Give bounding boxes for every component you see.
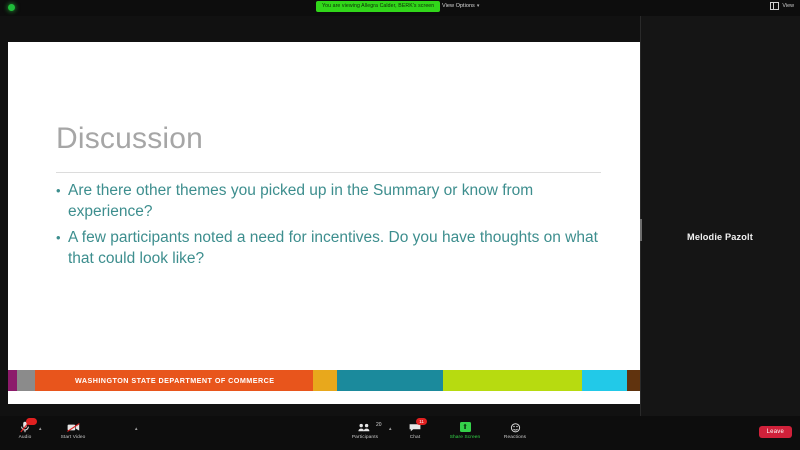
footer-segment-lime <box>443 370 582 391</box>
chat-unread-badge: 11 <box>416 418 427 425</box>
view-layout-button[interactable]: View <box>770 2 794 10</box>
participant-name: Melodie Pazolt <box>640 232 800 242</box>
reactions-icon <box>508 421 522 433</box>
camera-off-icon <box>66 421 80 433</box>
chevron-down-icon: ▾ <box>477 3 480 9</box>
slide-page-number: 16 <box>627 370 640 391</box>
audio-button[interactable]: Audio ▲ <box>8 421 42 440</box>
bullet-icon: • <box>56 227 68 248</box>
footer-organization-label: WASHINGTON STATE DEPARTMENT OF COMMERCE <box>35 370 313 391</box>
footer-segment-cyan <box>582 370 627 391</box>
audio-options-caret[interactable]: ▲ <box>38 426 42 431</box>
microphone-muted-icon <box>18 421 32 433</box>
start-video-button[interactable]: Start Video ▲ <box>56 421 90 440</box>
footer-segment-teal <box>337 370 443 391</box>
participants-options-caret[interactable]: ▲ <box>388 426 392 431</box>
footer-segment-magenta <box>8 370 17 391</box>
view-options-label: View Options <box>442 3 475 9</box>
people-icon: 20 <box>358 421 372 433</box>
toolbar-left-group: Audio ▲ Start Video ▲ <box>8 421 90 440</box>
slide-bottom-margin <box>8 391 640 404</box>
chat-bubble-icon: 11 <box>408 421 422 433</box>
shared-screen-area: Discussion • Are there other themes you … <box>0 16 640 416</box>
meeting-toolbar: Audio ▲ Start Video ▲ <box>0 416 800 450</box>
chat-button-label: Chat <box>410 435 421 440</box>
viewing-screen-notice: You are viewing Allegra Calder, BERK's s… <box>316 1 440 12</box>
footer-segment-gray <box>17 370 35 391</box>
list-item: • A few participants noted a need for in… <box>56 227 601 269</box>
grid-view-icon <box>770 2 779 10</box>
top-bar: You are viewing Allegra Calder, BERK's s… <box>0 0 800 16</box>
slide-title: Discussion <box>56 122 203 156</box>
view-options-button[interactable]: View Options▾ <box>442 1 479 12</box>
footer-segment-amber <box>313 370 337 391</box>
share-screen-button[interactable]: ⬆ Share Screen <box>448 421 482 440</box>
participants-button-label: Participants <box>352 435 378 440</box>
toolbar-center-group: 20 Participants ▲ 11 Chat ⬆ Share Scre <box>348 421 532 440</box>
chat-button[interactable]: 11 Chat <box>398 421 432 440</box>
participants-button[interactable]: 20 Participants ▲ <box>348 421 382 440</box>
presentation-slide: Discussion • Are there other themes you … <box>8 42 640 404</box>
zoom-meeting-window: You are viewing Allegra Calder, BERK's s… <box>0 0 800 450</box>
video-options-caret[interactable]: ▲ <box>134 426 138 431</box>
audio-button-label: Audio <box>19 435 32 440</box>
bullet-text: A few participants noted a need for ince… <box>68 227 601 269</box>
audio-alert-badge <box>26 418 37 425</box>
list-item: • Are there other themes you picked up i… <box>56 180 601 222</box>
bullet-text: Are there other themes you picked up in … <box>68 180 601 222</box>
start-video-button-label: Start Video <box>61 435 86 440</box>
slide-footer-band: WASHINGTON STATE DEPARTMENT OF COMMERCE … <box>8 370 640 391</box>
title-divider <box>56 172 601 173</box>
slide-bullet-list: • Are there other themes you picked up i… <box>56 180 601 274</box>
reactions-button-label: Reactions <box>504 435 526 440</box>
leave-button[interactable]: Leave <box>759 426 792 438</box>
share-screen-icon: ⬆ <box>458 421 472 433</box>
share-screen-button-label: Share Screen <box>450 435 481 440</box>
participant-video-panel: Melodie Pazolt <box>640 16 800 416</box>
bullet-icon: • <box>56 180 68 201</box>
view-button-label: View <box>782 3 794 9</box>
participants-count: 20 <box>376 422 382 428</box>
recording-dot <box>8 4 15 11</box>
panel-divider <box>640 16 641 416</box>
reactions-button[interactable]: Reactions <box>498 421 532 440</box>
